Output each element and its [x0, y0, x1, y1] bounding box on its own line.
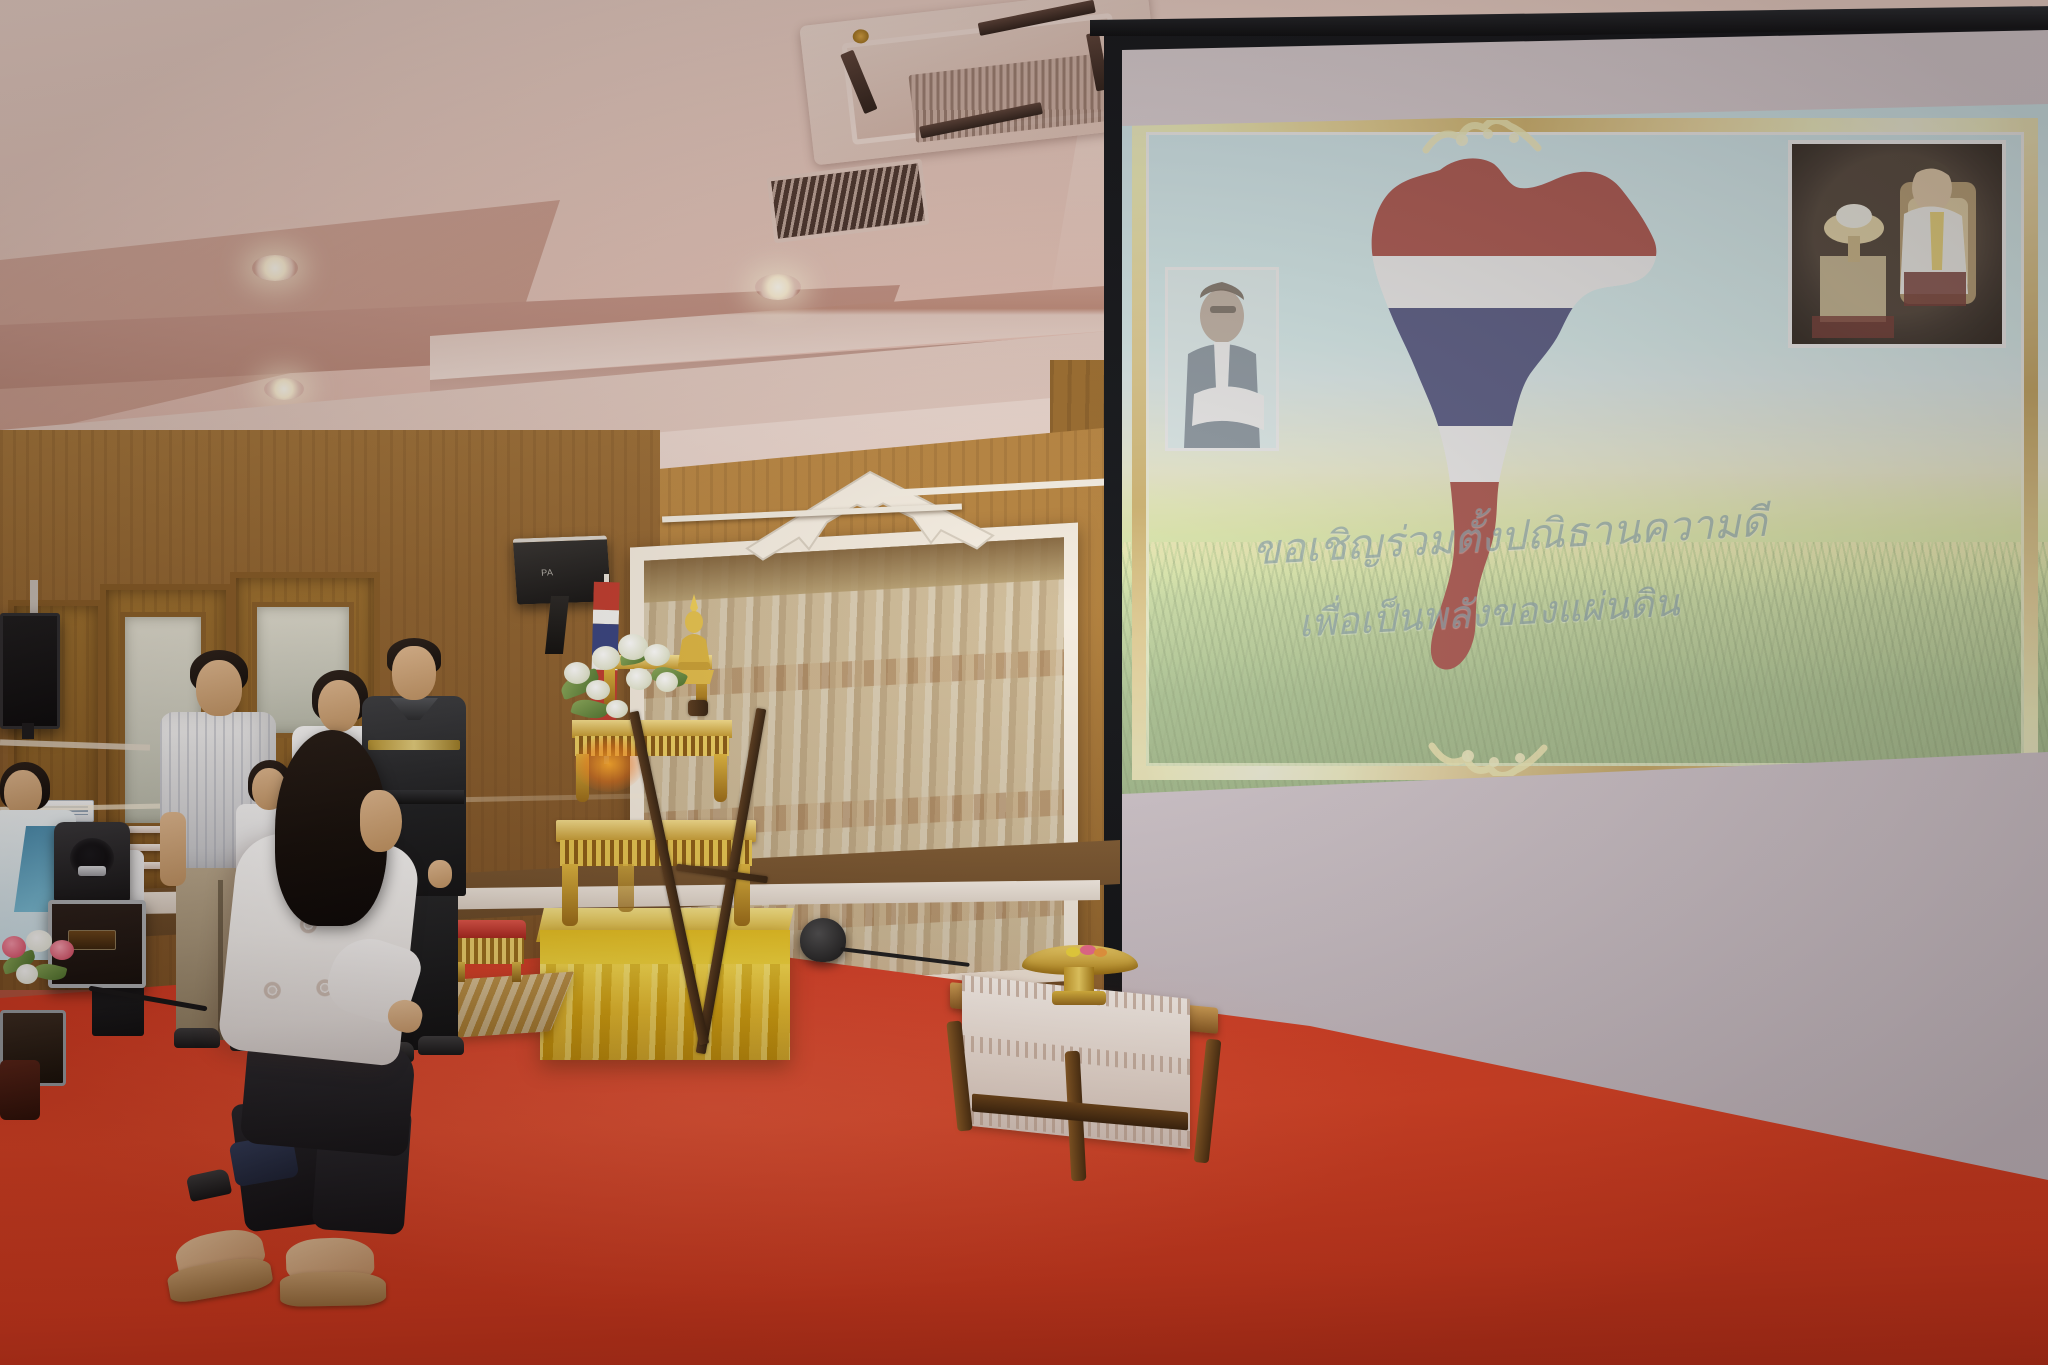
easel-top-joint: [688, 700, 708, 716]
avatar-head: [196, 660, 242, 716]
flower-bloom: [26, 930, 52, 952]
slide-corner-ornament: [1428, 738, 1548, 776]
altar-tier-leg: [714, 754, 727, 802]
altar-table-leg: [618, 864, 634, 912]
ceremony-hall-photo: PA: [0, 0, 2048, 1365]
flower-bloom: [606, 700, 628, 718]
lace-embroidery-motif: [246, 964, 298, 1016]
flower-bloom: [50, 940, 74, 960]
avatar-hand: [428, 860, 452, 888]
sandal: [280, 1271, 387, 1307]
avatar-head: [392, 646, 436, 700]
stool-leg: [512, 962, 521, 982]
dark-equipment-case: [0, 1060, 40, 1120]
flower-bloom: [656, 672, 678, 692]
altar-table-leg: [562, 864, 578, 926]
wall-mounted-tv[interactable]: [0, 613, 60, 729]
gold-draped-platform: [540, 930, 790, 1060]
slide-corner-ornament: [1422, 120, 1542, 158]
flower-bloom: [592, 646, 620, 670]
slide-gold-border: [1132, 118, 2038, 780]
avatar-arm: [160, 812, 186, 886]
door-handle-trim: [128, 826, 162, 833]
air-vent-slats: [771, 163, 925, 239]
flower-bloom: [564, 662, 590, 684]
tv-mount-bracket: [22, 723, 34, 739]
platform-fabric-skirt: [540, 964, 790, 1060]
recessed-downlight: [252, 255, 298, 281]
tray-foot: [1052, 991, 1106, 1005]
flower-bloom: [626, 668, 652, 690]
stool-red-cushion: [452, 920, 526, 940]
flower-bloom: [2, 936, 26, 958]
stool-carved-body: [454, 938, 524, 964]
gold-pedestal-offering-tray: [1022, 945, 1138, 1007]
white-flower-arrangement: [556, 628, 696, 738]
stage-light-reflector: [78, 866, 106, 876]
flower-arrangement: [0, 930, 86, 1000]
shoe: [418, 1036, 464, 1055]
recessed-downlight: [755, 274, 801, 300]
flower-leaf: [570, 695, 610, 722]
projected-slide: ขอเชิญร่วมตั้งปณิธานความดี เพื่อเป็นพลัง…: [1122, 104, 2048, 794]
recessed-downlight: [264, 378, 304, 400]
candle-flame-glow: [574, 736, 644, 792]
avatar-head: [318, 680, 360, 732]
speaker-brand-label: PA: [541, 567, 554, 577]
shoe: [174, 1028, 220, 1048]
uniform-shoulder-braid: [368, 740, 460, 750]
flower-offering: [1094, 948, 1107, 957]
flower-offering: [1066, 947, 1080, 957]
gold-kneeling-stool: [452, 920, 526, 978]
low-wooden-offering-table: [950, 995, 1218, 1195]
flower-bloom: [16, 964, 38, 984]
table-leg: [1194, 1039, 1222, 1164]
par-can-stage-light: [800, 918, 846, 962]
foreground-woman-face: [360, 790, 402, 852]
flower-bloom: [644, 644, 670, 666]
flower-bloom: [586, 680, 610, 700]
